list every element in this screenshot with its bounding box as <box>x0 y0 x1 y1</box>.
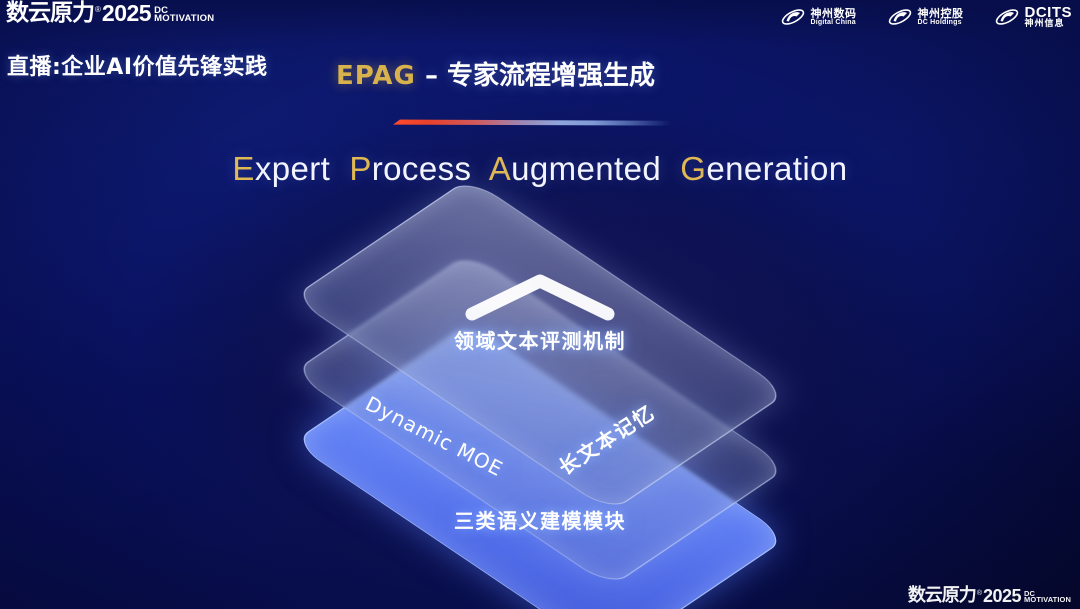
partner-logo-text: DCITS 神州信息 <box>1025 5 1073 29</box>
partner-name-cn: 神州信息 <box>1025 20 1073 29</box>
page-title: EPAG – 专家流程增强生成 <box>336 55 655 92</box>
corner-watermark: 数云原力 ® 2025 DC MOTIVATION <box>908 587 1071 605</box>
live-stream-title: 直播:企业AI价值先锋实践 <box>7 49 268 81</box>
brand-name-cn: 数云原力 <box>6 2 94 25</box>
partner-name-cn: 神州数码 <box>811 8 857 19</box>
slide-canvas: 数云原力 ® 2025 DC MOTIVATION 神州数码 Digital C… <box>0 0 1080 609</box>
partner-logo-text: 神州控股 DC Holdings <box>918 8 964 26</box>
gradient-divider <box>393 119 671 128</box>
page-title-separator: – <box>416 61 447 91</box>
watermark-dc-motivation: DC MOTIVATION <box>1024 591 1071 605</box>
page-title-acronym: EPAG <box>336 61 416 91</box>
partner-logo-dc-holdings: 神州控股 DC Holdings <box>887 6 964 28</box>
top-bar: 数云原力 ® 2025 DC MOTIVATION 神州数码 Digital C… <box>0 0 1080 44</box>
acronym-word-process: Process <box>349 150 471 187</box>
acronym-word-generation: Generation <box>680 150 847 187</box>
partner-logo-dcits: DCITS 神州信息 <box>994 5 1073 29</box>
acronym-word-augmented: Augmented <box>489 150 661 187</box>
partner-logo-text: 神州数码 Digital China <box>811 8 857 26</box>
brand-dc-motivation: DC MOTIVATION <box>154 7 214 24</box>
partner-name-cn: 神州控股 <box>918 8 964 19</box>
layered-architecture-diagram: 领域文本评测机制 Dynamic MOE 长文本记忆 三类语义建模模块 <box>255 222 825 562</box>
page-title-chinese: 专家流程增强生成 <box>447 61 655 91</box>
brand-logo: 数云原力 ® 2025 DC MOTIVATION <box>6 2 214 25</box>
watermark-motivation-label: MOTIVATION <box>1024 597 1071 604</box>
partner-name-en: Digital China <box>811 19 857 26</box>
diagram-layer-bottom-label: 三类语义建模模块 <box>454 505 626 534</box>
partner-logo-digital-china: 神州数码 Digital China <box>780 6 857 28</box>
swoosh-icon <box>887 6 913 28</box>
acronym-expansion: Expert Process Augmented Generation <box>0 150 1080 188</box>
swoosh-icon <box>994 6 1020 28</box>
swoosh-icon <box>780 6 806 28</box>
watermark-name-cn: 数云原力 <box>908 587 976 605</box>
acronym-word-expert: Expert <box>232 150 330 187</box>
partner-name-en: DCITS <box>1025 5 1073 20</box>
brand-registered-mark: ® <box>95 6 101 14</box>
watermark-year: 2025 <box>983 587 1021 605</box>
partner-name-en: DC Holdings <box>918 19 964 26</box>
chevron-up-icon <box>462 270 618 322</box>
brand-year: 2025 <box>102 2 151 25</box>
diagram-layer-top-label: 领域文本评测机制 <box>454 325 626 354</box>
brand-motivation-label: MOTIVATION <box>154 15 214 24</box>
partner-logo-group: 神州数码 Digital China 神州控股 DC Holdings <box>780 5 1073 29</box>
watermark-registered-mark: ® <box>977 590 982 597</box>
